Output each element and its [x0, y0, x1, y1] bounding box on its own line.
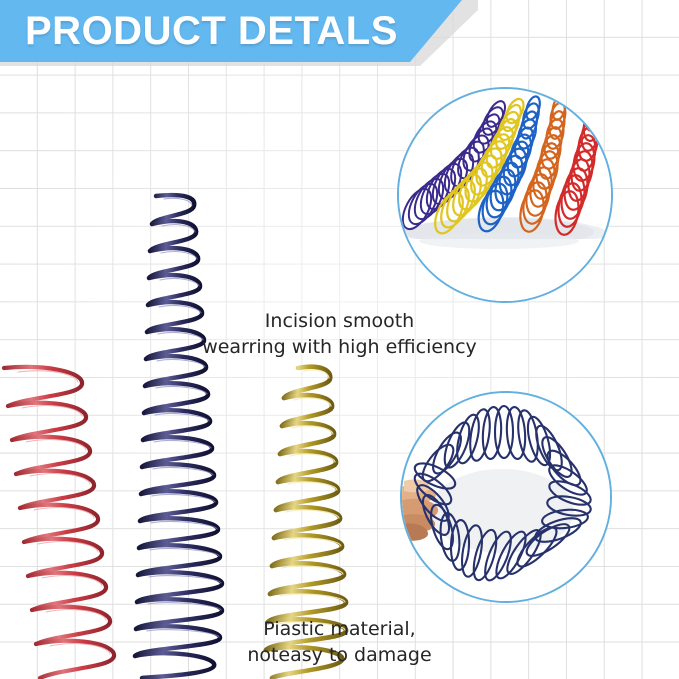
feature-image-incision	[397, 87, 613, 303]
feature-caption-incision: Incision smooth wearring with high effic…	[0, 308, 679, 360]
caption-line-1: Piastic material,	[0, 616, 679, 642]
feature-image-material	[400, 391, 612, 603]
product-details-page: PRODUCT DETALS	[0, 0, 679, 679]
binding-coils-bundle-photo	[399, 89, 611, 301]
caption-line-2: wearring with high efficiency	[0, 334, 679, 360]
header-banner: PRODUCT DETALS	[0, 0, 480, 70]
navy-spiral-coil	[118, 190, 238, 679]
page-title: PRODUCT DETALS	[25, 7, 398, 55]
caption-line-2: noteasy to damage	[0, 642, 679, 668]
feature-caption-material: Piastic material, noteasy to damage	[0, 616, 679, 668]
bent-coil-ring-in-hand-photo	[402, 393, 610, 601]
caption-line-1: Incision smooth	[0, 308, 679, 334]
